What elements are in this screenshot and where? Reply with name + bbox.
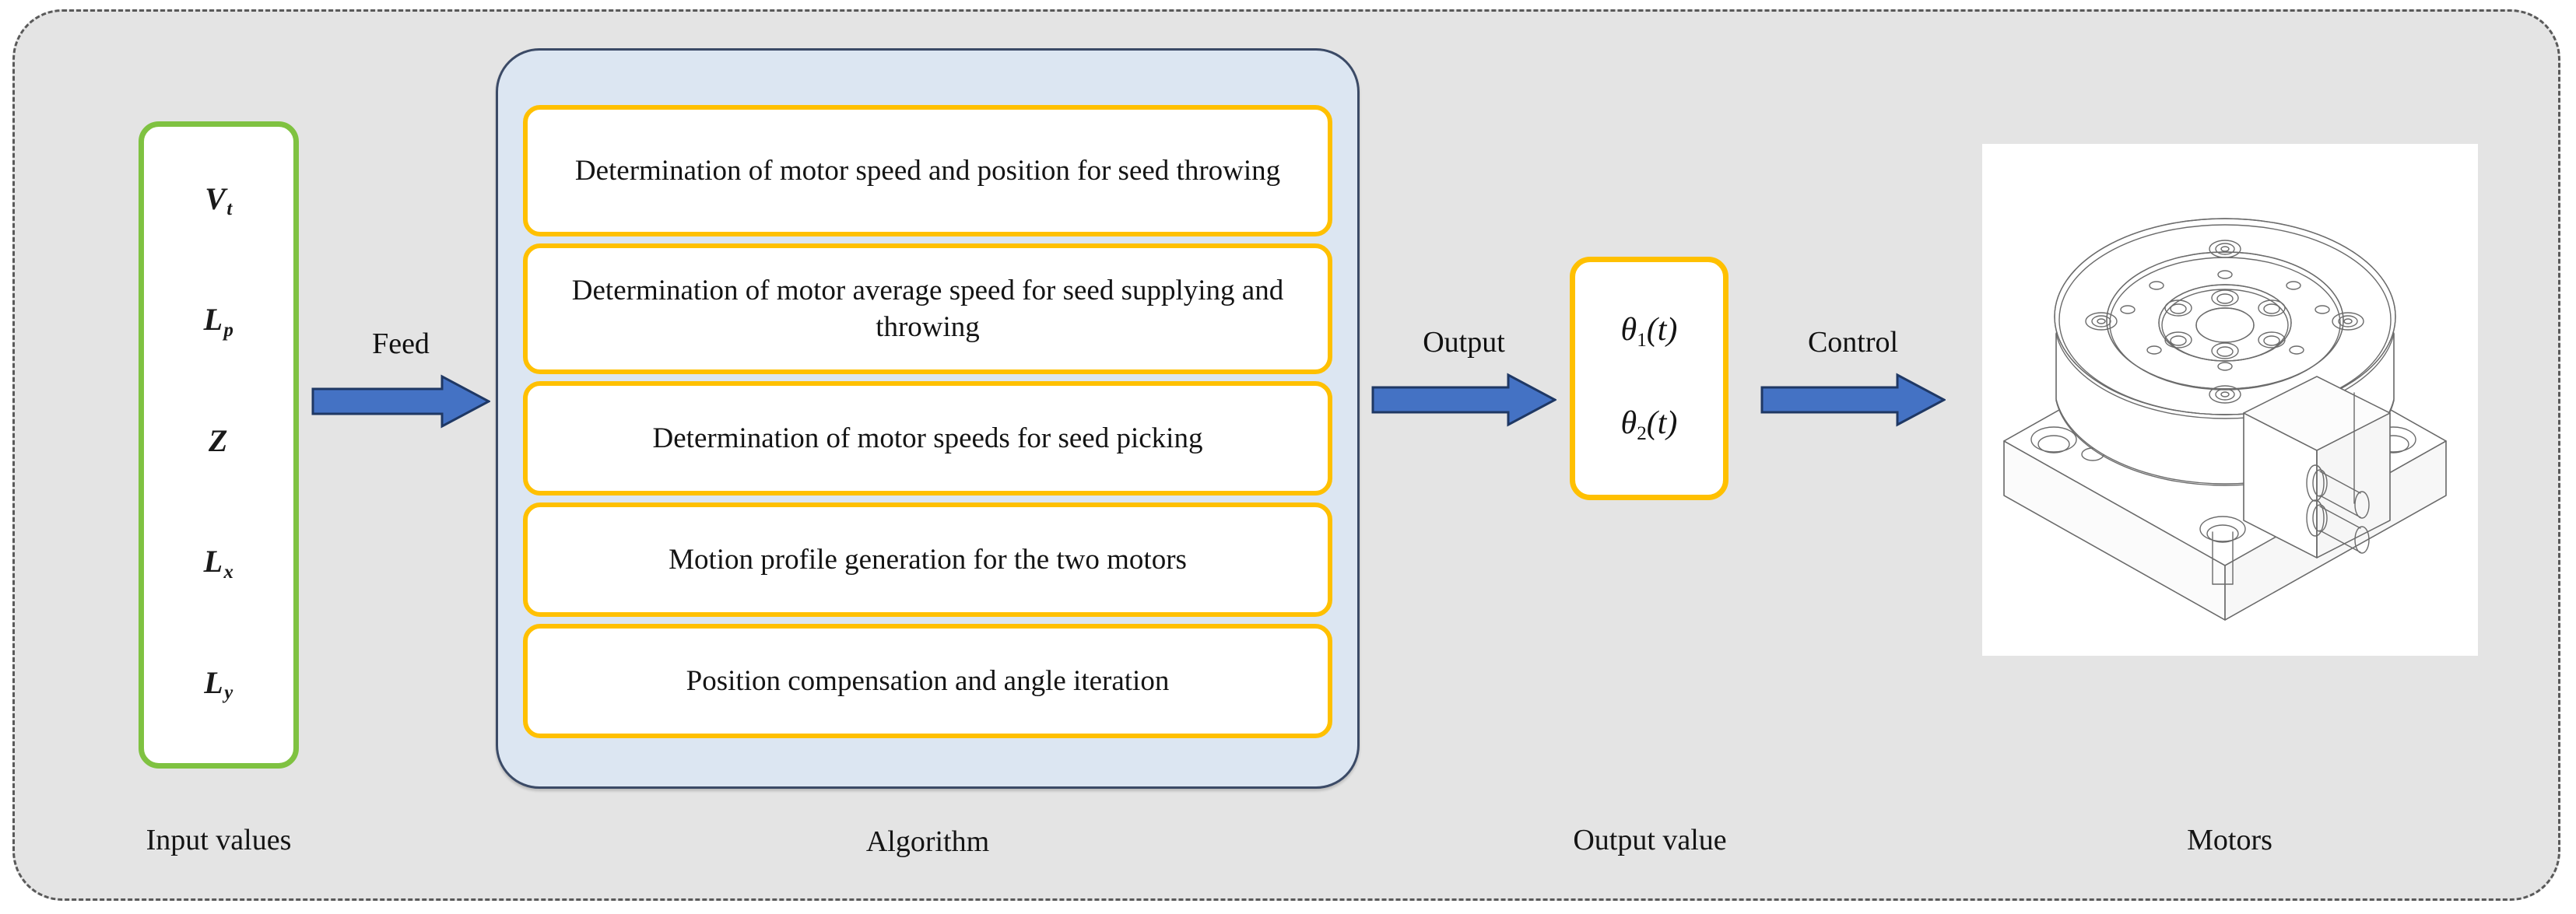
caption-motors: Motors [2132,823,2327,857]
feed-arrow-label: Feed [372,327,430,361]
input-variable-vt: Vt [205,184,233,219]
control-arrow-icon [1760,372,1946,428]
input-values-box[interactable]: Vt Lp Z Lx Ly [139,121,299,769]
output-theta-1: θ1(t) [1621,313,1678,350]
caption-algorithm: Algorithm [826,825,1029,859]
motor-image-panel[interactable] [1982,144,2478,656]
algorithm-step-4[interactable]: Motion profile generation for the two mo… [523,503,1332,617]
input-variable-z: Z [209,425,229,461]
output-arrow-group: Output [1371,325,1556,428]
rotary-motor-cad-drawing-icon [1982,144,2478,656]
output-arrow-label: Output [1423,325,1505,359]
input-variable-lp: Lp [204,304,234,340]
caption-output-value: Output value [1549,823,1751,857]
output-arrow-icon [1371,372,1556,428]
algorithm-panel[interactable]: Determination of motor speed and positio… [496,48,1360,789]
caption-input-values: Input values [123,823,314,857]
input-variable-lx: Lx [204,546,234,582]
algorithm-step-2[interactable]: Determination of motor average speed for… [523,243,1332,375]
control-arrow-group: Control [1760,325,1946,428]
input-variable-ly: Ly [204,667,233,703]
control-arrow-label: Control [1808,325,1898,359]
output-value-box[interactable]: θ1(t) θ2(t) [1570,257,1728,500]
algorithm-step-5[interactable]: Position compensation and angle iteratio… [523,624,1332,738]
diagram-canvas: Vt Lp Z Lx Ly Feed Determination of moto… [0,0,2576,914]
output-theta-2: θ2(t) [1621,407,1678,443]
algorithm-step-1[interactable]: Determination of motor speed and positio… [523,105,1332,236]
feed-arrow-group: Feed [311,327,490,429]
feed-arrow-icon [311,373,490,429]
algorithm-step-3[interactable]: Determination of motor speeds for seed p… [523,381,1332,496]
